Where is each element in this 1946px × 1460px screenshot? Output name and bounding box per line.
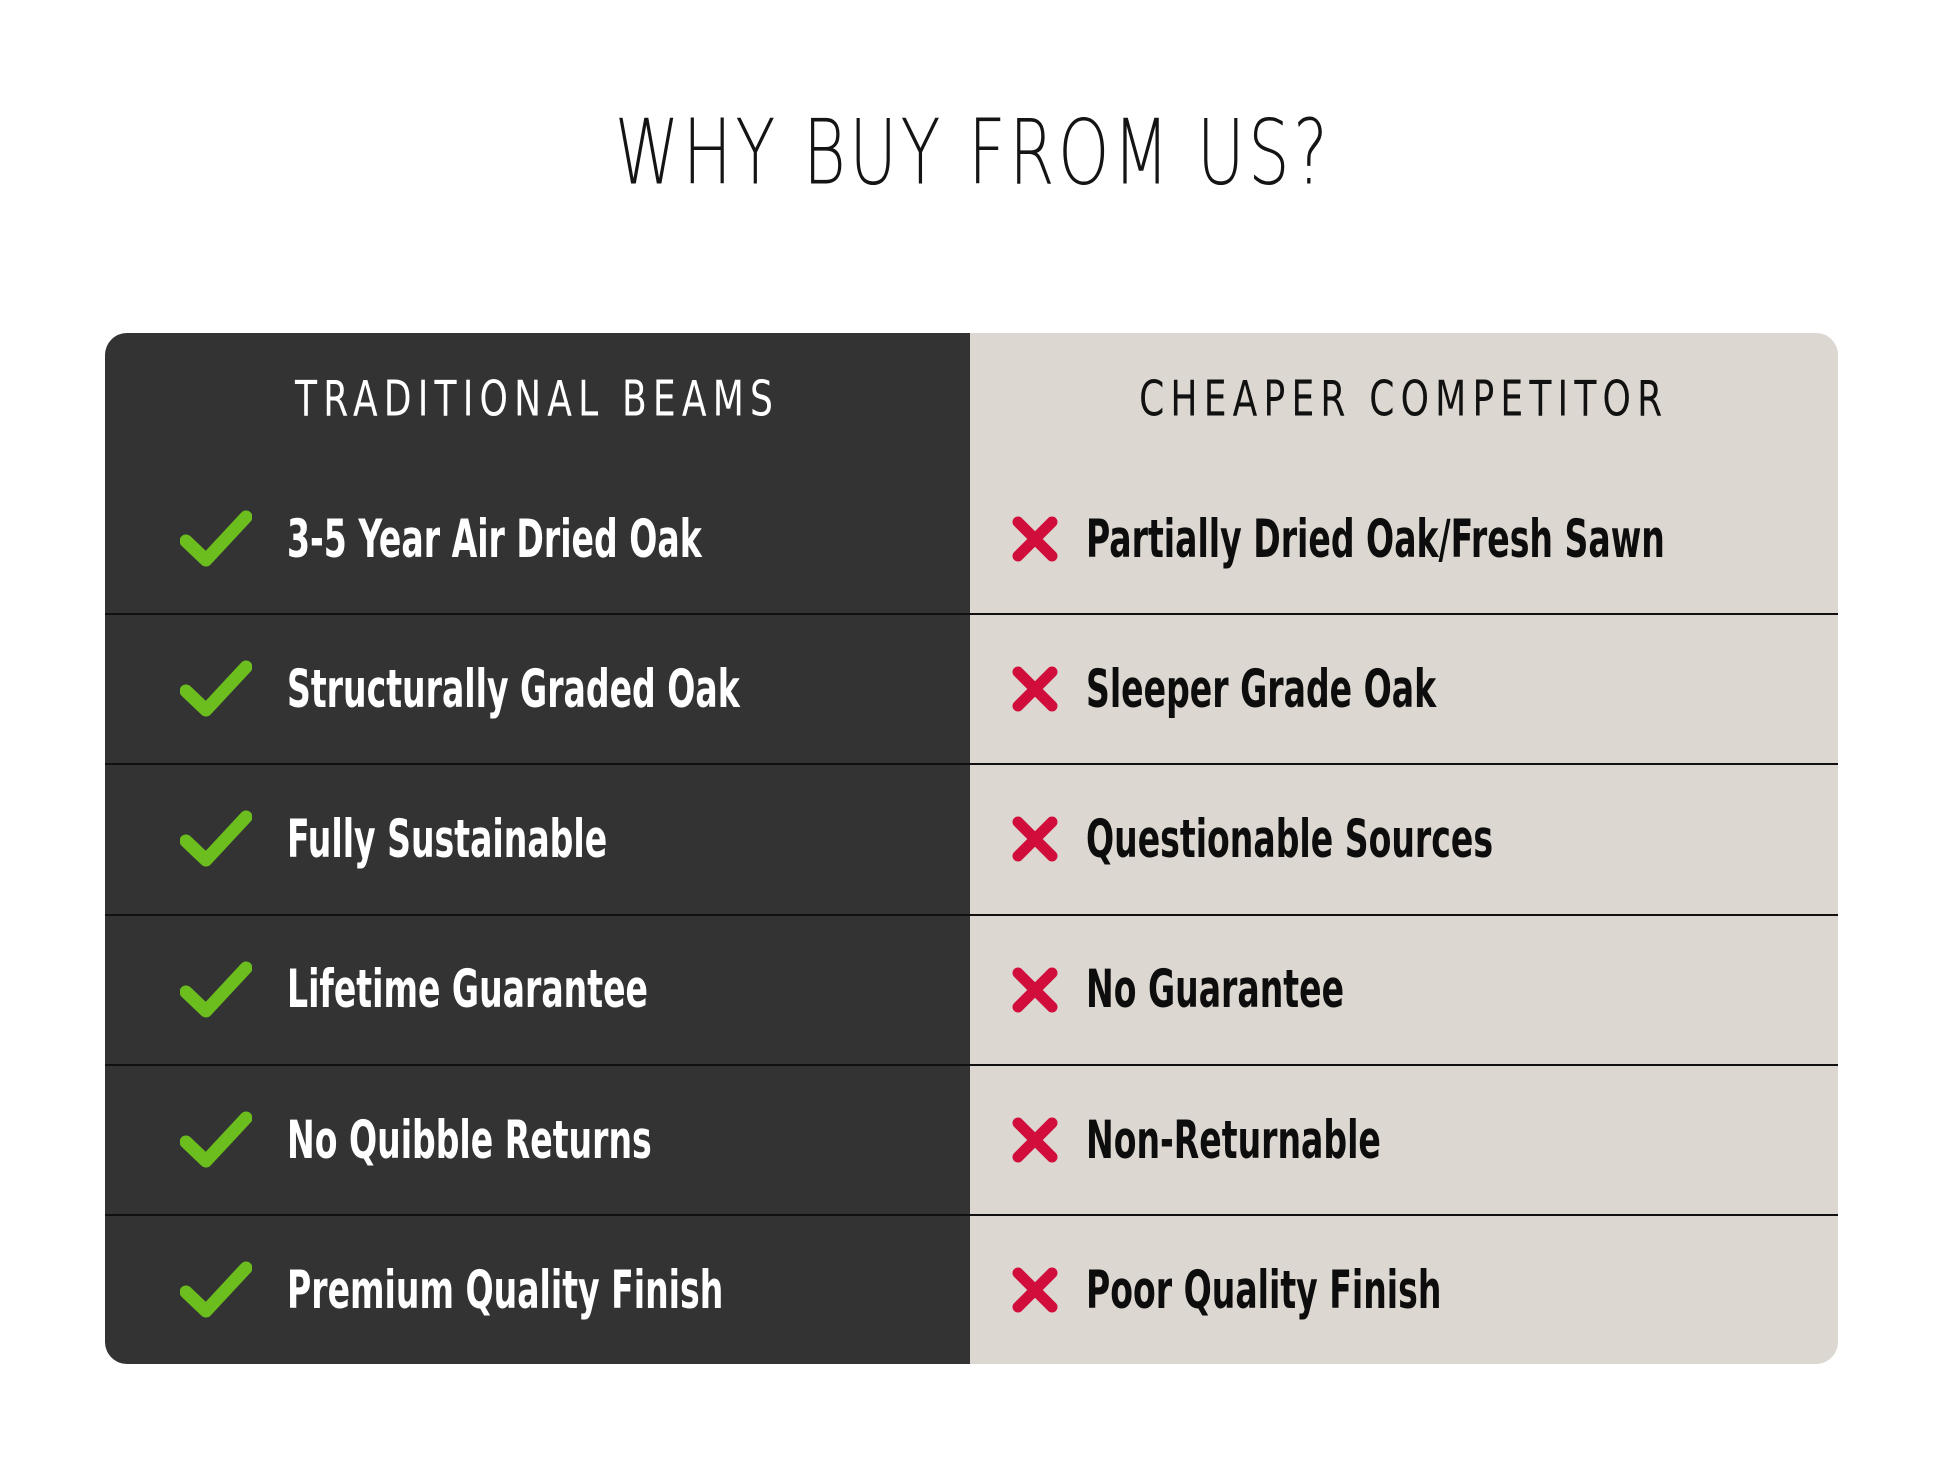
row-label: Partially Dried Oak/Fresh Sawn xyxy=(1086,512,1665,567)
comparison-table: TRADITIONAL BEAMS 3-5 Year Air Dried Oak… xyxy=(105,333,1838,1364)
table-row: Non-Returnable xyxy=(970,1064,1838,1214)
column-header-label: CHEAPER COMPETITOR xyxy=(1139,374,1668,423)
row-label: No Quibble Returns xyxy=(287,1112,652,1167)
column-header-label: TRADITIONAL BEAMS xyxy=(295,374,779,423)
cross-icon xyxy=(998,965,1072,1015)
table-row: 3-5 Year Air Dried Oak xyxy=(105,465,970,613)
table-row: Premium Quality Finish xyxy=(105,1214,970,1364)
row-label: Poor Quality Finish xyxy=(1086,1262,1441,1317)
table-row: No Quibble Returns xyxy=(105,1064,970,1214)
row-label: Premium Quality Finish xyxy=(287,1262,723,1317)
table-row: Fully Sustainable xyxy=(105,763,970,913)
column-cheaper-competitor: CHEAPER COMPETITOR Partially Dried Oak/F… xyxy=(970,333,1838,1364)
row-label: Structurally Graded Oak xyxy=(287,662,740,717)
cross-icon xyxy=(998,1265,1072,1315)
page-title: WHY BUY FROM US? xyxy=(136,108,1810,198)
cross-icon xyxy=(998,664,1072,714)
cross-icon xyxy=(998,514,1072,564)
table-row: Sleeper Grade Oak xyxy=(970,613,1838,763)
table-row: Structurally Graded Oak xyxy=(105,613,970,763)
column-traditional-beams: TRADITIONAL BEAMS 3-5 Year Air Dried Oak… xyxy=(105,333,970,1364)
check-icon xyxy=(157,510,275,568)
check-icon xyxy=(157,660,275,718)
check-icon xyxy=(157,1261,275,1319)
check-icon xyxy=(157,810,275,868)
cross-icon xyxy=(998,814,1072,864)
table-row: Poor Quality Finish xyxy=(970,1214,1838,1364)
check-icon xyxy=(157,1111,275,1169)
row-label: No Guarantee xyxy=(1086,962,1344,1017)
cross-icon xyxy=(998,1115,1072,1165)
table-row: Questionable Sources xyxy=(970,763,1838,913)
row-label: 3-5 Year Air Dried Oak xyxy=(287,512,702,567)
table-row: Partially Dried Oak/Fresh Sawn xyxy=(970,465,1838,613)
column-header-traditional-beams: TRADITIONAL BEAMS xyxy=(105,333,970,465)
row-label: Fully Sustainable xyxy=(287,812,607,867)
column-header-cheaper-competitor: CHEAPER COMPETITOR xyxy=(970,333,1838,465)
comparison-table-page: WHY BUY FROM US? TRADITIONAL BEAMS 3-5 Y… xyxy=(0,0,1946,1460)
check-icon xyxy=(157,961,275,1019)
table-row: Lifetime Guarantee xyxy=(105,914,970,1064)
row-label: Sleeper Grade Oak xyxy=(1086,662,1436,717)
row-label: Questionable Sources xyxy=(1086,812,1493,867)
table-row: No Guarantee xyxy=(970,914,1838,1064)
row-label: Non-Returnable xyxy=(1086,1112,1381,1167)
row-label: Lifetime Guarantee xyxy=(287,962,648,1017)
